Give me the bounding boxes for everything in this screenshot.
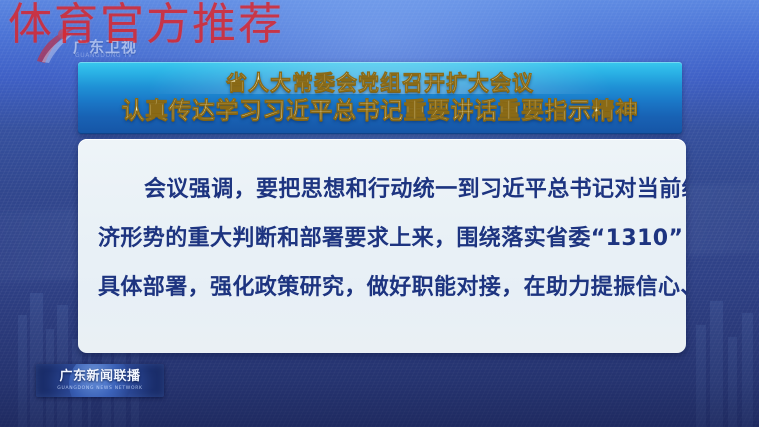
title-line-2: 认真传达学习习近平总书记重要讲话重要指示精神: [122, 96, 639, 126]
promo-watermark-text: 体育官方推荐: [8, 2, 284, 48]
program-name: 广东新闻联播: [59, 370, 140, 384]
program-logo-badge: 广东新闻联播 GUANGDONG NEWS NETWORK: [36, 364, 164, 397]
news-title-banner: 省人大常委会党组召开扩大会议 认真传达学习习近平总书记重要讲话重要指示精神: [78, 62, 682, 134]
body-line-3: 具体部署，强化政策研究，做好职能对接，在助力提振信心、: [98, 263, 666, 312]
program-subtitle: GUANGDONG NEWS NETWORK: [57, 386, 142, 391]
news-content-panel: 会议强调，要把思想和行动统一到习近平总书记对当前经 济形势的重大判断和部署要求上…: [78, 139, 686, 353]
body-line-1: 会议强调，要把思想和行动统一到习近平总书记对当前经: [98, 165, 666, 214]
body-line-2: 济形势的重大判断和部署要求上来，围绕落实省委“1310”: [98, 214, 666, 263]
broadcast-screen: 广东卫视 GUANGDONG TV 体育官方推荐 省人大常委会党组召开扩大会议 …: [0, 0, 759, 427]
title-line-1: 省人大常委会党组召开扩大会议: [226, 70, 534, 96]
channel-subtitle: GUANGDONG TV: [75, 52, 133, 59]
